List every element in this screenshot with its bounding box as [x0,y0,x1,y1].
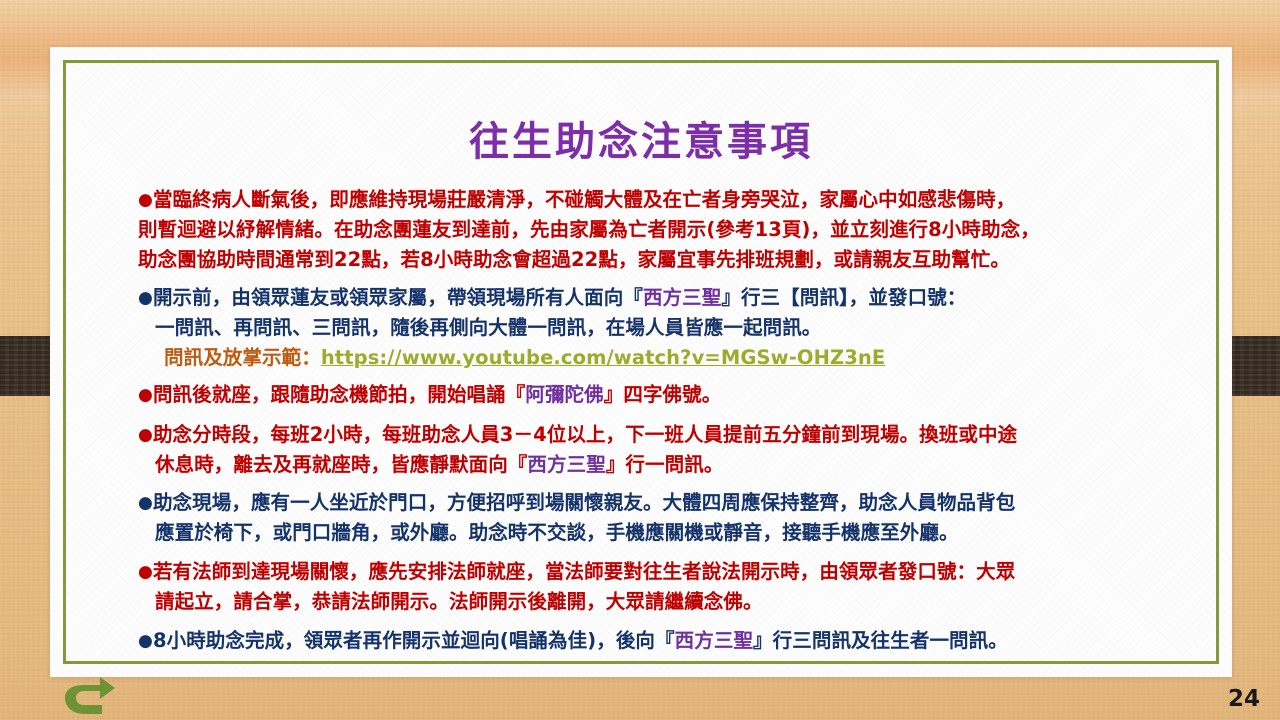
notice-item-1-line-3: 助念團協助時間通常到22點，若8小時助念會超過22點，家屬宜事先排班規劃，或請親… [138,245,1148,275]
page-number: 24 [1228,686,1260,712]
notice-item-2-line-2: 一問訊、再問訊、三問訊，隨後再側向大體一問訊，在場人員皆應一起問訊。 [138,313,1148,343]
term-highlight-western-trinity-2: 西方三聖 [527,453,605,476]
notice-item-5-line-1: 助念現場，應有一人坐近於門口，方便招呼到場關懷親友。大體四周應保持整齊，助念人員… [153,491,1015,514]
notice-item-1-line-2: 則暫迴避以紓解情緒。在助念團蓮友到達前，先由家屬為亡者開示(參考13頁)，並立刻… [138,215,1148,245]
term-highlight-western-trinity-3: 西方三聖 [675,629,753,652]
bullet-icon-5: ● [138,493,153,513]
bullet-icon-2: ● [138,288,153,308]
video-demo-label: 問訊及放掌示範： [164,346,321,369]
notice-item-3: ●問訊後就座，跟隨助念機節拍，開始唱誦『阿彌陀佛』四字佛號。 [138,380,1148,410]
bullet-icon-6: ● [138,562,153,582]
notice-item-4-line-2: 休息時，離去及再就座時，皆應靜默面向『西方三聖』行一問訊。 [138,450,1148,480]
bullet-icon-3: ● [138,385,153,405]
notice-item-6-line-2: 請起立，請合掌，恭請法師開示。法師開示後離開，大眾請繼續念佛。 [138,587,1148,617]
notice-item-1-line-1: 當臨終病人斷氣後，即應維持現場莊嚴清淨，不碰觸大體及在亡者身旁哭泣，家屬心中如感… [153,188,1015,211]
notice-item-2-line-1: 開示前，由領眾蓮友或領眾家屬，帶領現場所有人面向『西方三聖』行三【問訊】，並發口… [153,286,966,309]
notice-item-6-line-1: 若有法師到達現場關懷，應先安排法師就座，當法師要對往生者說法開示時，由領眾者發口… [153,560,1015,583]
notice-item-6: ●若有法師到達現場關懷，應先安排法師就座，當法師要對往生者說法開示時，由領眾者發… [138,557,1148,617]
notice-item-4: ●助念分時段，每班2小時，每班助念人員3－4位以上，下一班人員提前五分鐘前到現場… [138,420,1148,480]
bullet-icon-1: ● [138,190,153,210]
page-title: 往生助念注意事項 [50,109,1232,167]
notice-item-5-line-2: 應置於椅下，或門口牆角，或外廳。助念時不交談，手機應關機或靜音，接聽手機應至外廳… [138,518,1148,548]
notice-item-4-line-1: 助念分時段，每班2小時，每班助念人員3－4位以上，下一班人員提前五分鐘前到現場。… [153,423,1017,446]
notice-item-2: ●開示前，由領眾蓮友或領眾家屬，帶領現場所有人面向『西方三聖』行三【問訊】，並發… [138,283,1148,373]
youtube-demo-link[interactable]: https://www.youtube.com/watch?v=MGSw-OHZ… [321,346,886,369]
term-highlight-amitabha: 阿彌陀佛 [525,383,603,406]
refresh-arrow-icon[interactable] [60,676,118,716]
content-panel: 往生助念注意事項 ●當臨終病人斷氣後，即應維持現場莊嚴清淨，不碰觸大體及在亡者身… [50,47,1232,677]
term-highlight-western-trinity-1: 西方三聖 [643,286,721,309]
notice-item-7: ●8小時助念完成，領眾者再作開示並迴向(唱誦為佳)，後向『西方三聖』行三問訊及往… [138,626,1148,656]
notice-item-3-line-1: 問訊後就座，跟隨助念機節拍，開始唱誦『阿彌陀佛』四字佛號。 [153,383,721,406]
notice-item-5: ●助念現場，應有一人坐近於門口，方便招呼到場關懷親友。大體四周應保持整齊，助念人… [138,488,1148,548]
notice-list: ●當臨終病人斷氣後，即應維持現場莊嚴清淨，不碰觸大體及在亡者身旁哭泣，家屬心中如… [138,185,1148,662]
notice-item-7-line-1: 8小時助念完成，領眾者再作開示並迴向(唱誦為佳)，後向『西方三聖』行三問訊及往生… [153,629,1008,652]
bullet-icon-4: ● [138,425,153,445]
bullet-icon-7: ● [138,631,153,651]
notice-item-1: ●當臨終病人斷氣後，即應維持現場莊嚴清淨，不碰觸大體及在亡者身旁哭泣，家屬心中如… [138,185,1148,275]
